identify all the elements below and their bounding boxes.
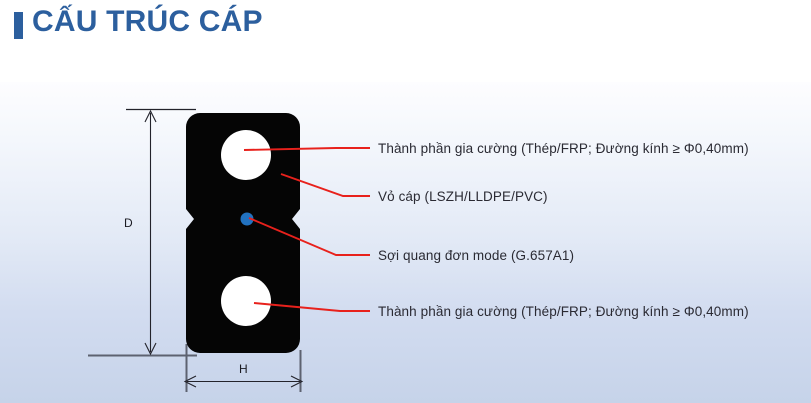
strength-member-top-circle <box>221 130 271 180</box>
callout-label-strength-member-top: Thành phần gia cường (Thép/FRP; Đường kí… <box>378 141 749 156</box>
title-accent-bar-icon <box>14 12 23 39</box>
dimension-label-h: H <box>239 362 248 376</box>
screenshot-root: CẤU TRÚC CÁP <box>0 0 811 403</box>
callout-label-optical-fiber: Sợi quang đơn mode (G.657A1) <box>378 248 574 263</box>
page-title: CẤU TRÚC CÁP <box>32 5 263 39</box>
callout-label-strength-member-bottom: Thành phần gia cường (Thép/FRP; Đường kí… <box>378 304 749 319</box>
page-header: CẤU TRÚC CÁP <box>0 0 811 82</box>
dimension-label-d: D <box>124 216 133 230</box>
callout-label-cable-jacket: Vỏ cáp (LSZH/LLDPE/PVC) <box>378 189 548 204</box>
strength-member-bottom-circle <box>221 276 271 326</box>
